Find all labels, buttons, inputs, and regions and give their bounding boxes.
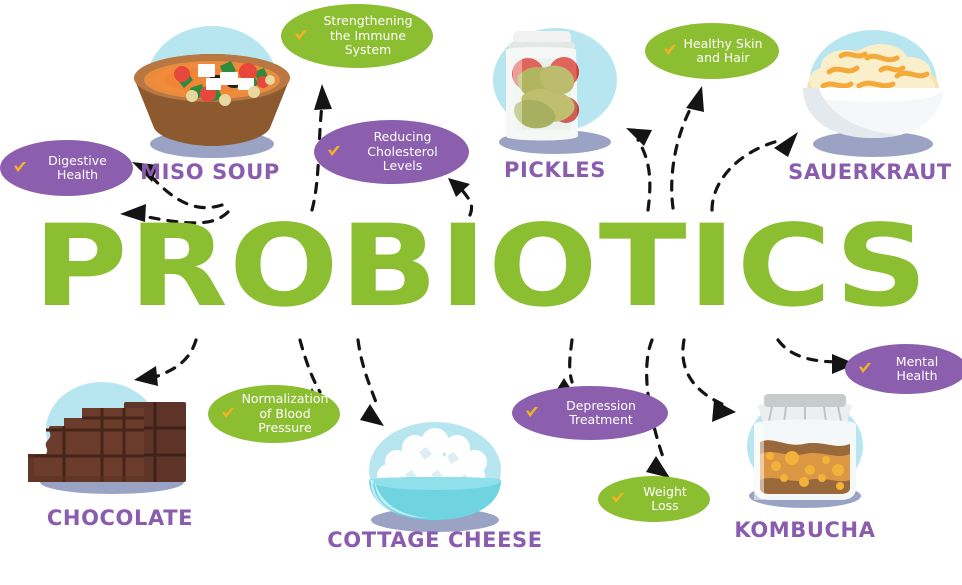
arrow-head-skin	[686, 86, 704, 112]
benefit-pill-immune-system[interactable]: Strengtheningthe Immune System	[281, 4, 433, 68]
kombucha-illustration	[720, 378, 890, 523]
arrow-path-chocolate	[152, 340, 196, 378]
arrow-head-weightloss	[646, 456, 670, 478]
arrow-path-mental	[778, 340, 840, 362]
arrow-path-kombucha	[683, 340, 722, 404]
check-icon	[662, 43, 678, 59]
benefit-label: Weight Loss	[632, 485, 698, 514]
arrow-path-bloodpressure	[300, 340, 320, 392]
arrow-path-skin	[672, 102, 694, 208]
benefit-pill-depression-treatment[interactable]: Depression Treatment	[512, 386, 668, 440]
check-icon	[12, 160, 28, 176]
food-item-kombucha[interactable]: KOMBUCHA	[720, 378, 890, 553]
benefit-label: Healthy Skinand Hair	[684, 37, 763, 66]
benefit-pill-healthy-skin-hair[interactable]: Healthy Skinand Hair	[645, 23, 779, 79]
food-label-miso-soup: MISO SOUP	[140, 160, 280, 184]
miso-soup-illustration	[120, 22, 300, 172]
page-title: PROBIOTICS	[0, 206, 962, 326]
food-label-chocolate: CHOCOLATE	[47, 506, 193, 530]
food-label-pickles: PICKLES	[504, 158, 606, 182]
food-label-kombucha: KOMBUCHA	[734, 518, 875, 542]
food-label-sauerkraut: SAUERKRAUT	[788, 160, 952, 184]
benefit-pill-blood-pressure[interactable]: Normalizationof Blood Pressure	[208, 385, 340, 443]
check-icon	[857, 361, 873, 377]
food-item-chocolate[interactable]: CHOCOLATE	[20, 378, 220, 538]
check-icon	[220, 406, 236, 422]
chocolate-illustration	[20, 378, 220, 498]
food-item-sauerkraut[interactable]: SAUERKRAUT	[785, 22, 955, 197]
benefit-pill-weight-loss[interactable]: Weight Loss	[598, 476, 710, 522]
benefit-pill-reducing-cholesterol[interactable]: Reducing CholesterolLevels	[314, 120, 469, 184]
benefit-label: Reducing CholesterolLevels	[348, 130, 457, 174]
cottage-cheese-illustration	[335, 420, 535, 540]
food-item-pickles[interactable]: PICKLES	[480, 18, 630, 198]
infographic-canvas: PROBIOTICS	[0, 0, 962, 585]
check-icon	[326, 144, 342, 160]
food-item-miso-soup[interactable]: MISO SOUP	[120, 22, 300, 197]
benefit-label: Digestive Health	[34, 154, 121, 183]
sauerkraut-illustration	[785, 22, 955, 172]
check-icon	[293, 28, 309, 44]
benefit-label: Normalizationof Blood Pressure	[242, 392, 329, 436]
benefit-label: Strengtheningthe Immune System	[315, 14, 421, 58]
check-icon	[524, 405, 540, 421]
check-icon	[610, 491, 626, 507]
arrow-path-depression	[570, 340, 572, 382]
benefit-pill-mental-health[interactable]: Mental Health	[845, 344, 962, 394]
benefit-label: Mental Health	[879, 355, 955, 384]
food-item-cottage-cheese[interactable]: COTTAGE CHEESE	[335, 420, 535, 560]
benefit-label: Depression Treatment	[546, 399, 656, 428]
arrow-head-immune	[314, 84, 332, 110]
arrow-path-cottage	[358, 340, 378, 408]
pickles-illustration	[480, 18, 630, 168]
food-label-cottage-cheese: COTTAGE CHEESE	[327, 528, 542, 552]
benefit-pill-digestive-health[interactable]: Digestive Health	[0, 140, 133, 196]
